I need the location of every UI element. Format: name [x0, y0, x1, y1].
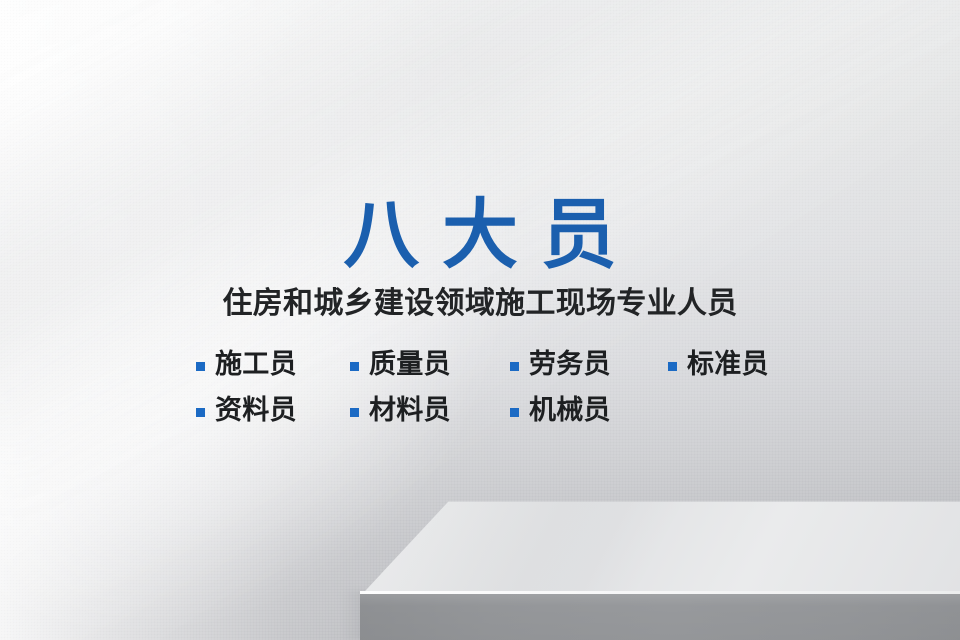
role-label: 施工员	[215, 348, 297, 382]
role-label: 资料员	[215, 394, 297, 428]
role-label: 材料员	[369, 394, 451, 428]
role-list: 施工员 质量员 劳务员 标准员 资料员	[196, 348, 816, 434]
role-item-ziliaoyuan: 资料员	[196, 394, 297, 428]
square-bullet-icon	[510, 408, 519, 417]
square-bullet-icon	[350, 362, 359, 371]
role-item-laowuyuan: 劳务员	[510, 348, 611, 382]
square-bullet-icon	[668, 362, 677, 371]
square-bullet-icon	[510, 362, 519, 371]
subtitle: 住房和城乡建设领域施工现场专业人员	[0, 285, 960, 323]
role-item-shigongyuan: 施工员	[196, 348, 297, 382]
role-label: 机械员	[529, 394, 611, 428]
role-item-biaozhunyuan: 标准员	[668, 348, 769, 382]
square-bullet-icon	[196, 362, 205, 371]
role-item-zhiliangyuan: 质量员	[350, 348, 451, 382]
role-label: 劳务员	[529, 348, 611, 382]
role-item-cailiaoyuan: 材料员	[350, 394, 451, 428]
poster-canvas: 八大员 住房和城乡建设领域施工现场专业人员 施工员 质量员 劳务员	[0, 0, 960, 640]
square-bullet-icon	[196, 408, 205, 417]
square-bullet-icon	[350, 408, 359, 417]
role-label: 标准员	[687, 348, 769, 382]
role-label: 质量员	[369, 348, 451, 382]
role-row-1: 施工员 质量员 劳务员 标准员	[196, 348, 816, 388]
role-item-jixieyuan: 机械员	[510, 394, 611, 428]
main-title: 八大员	[0, 190, 960, 280]
poster-content: 八大员 住房和城乡建设领域施工现场专业人员 施工员 质量员 劳务员	[0, 0, 960, 640]
role-row-2: 资料员 材料员 机械员	[196, 394, 816, 434]
